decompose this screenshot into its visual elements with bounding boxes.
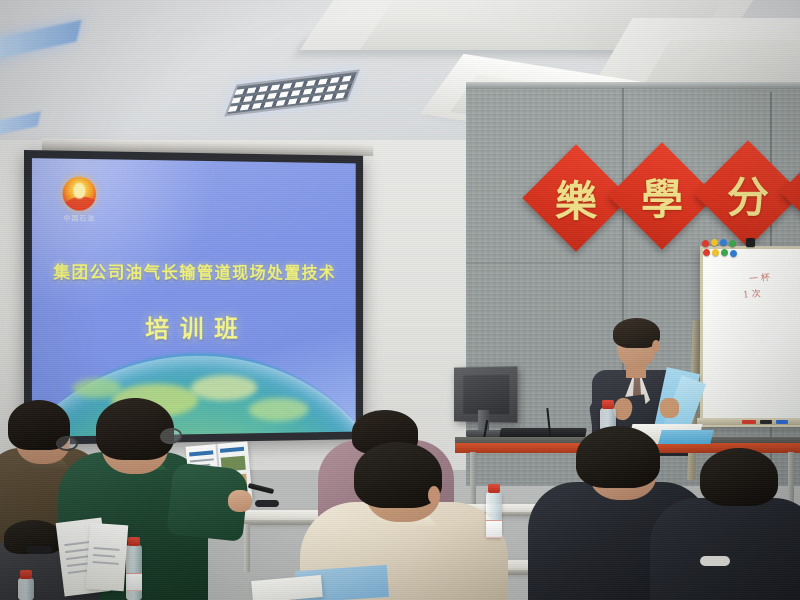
whiteboard-note: 一 杯 (749, 270, 771, 284)
petrochina-sun-logo-icon (63, 177, 96, 211)
slide-subtitle: 培训班 (32, 310, 356, 346)
whiteboard-magnet[interactable] (721, 249, 728, 256)
whiteboard-magnet[interactable] (712, 249, 719, 256)
attendee-hand (228, 490, 252, 512)
bottle-label (486, 520, 502, 538)
whiteboard-magnet[interactable] (703, 249, 710, 256)
fluorescent-light-icon (0, 111, 41, 139)
attendee-hair (576, 426, 660, 488)
whiteboard-marker[interactable] (760, 420, 772, 424)
bottle-cap (602, 400, 614, 409)
placard-character: 學 (624, 158, 700, 234)
desk-object (26, 546, 52, 554)
attendee-hair (700, 448, 778, 506)
placard-character: 分 (710, 156, 786, 232)
attendee-hair (96, 398, 174, 460)
wall-top-edge (466, 82, 800, 89)
whiteboard-magnet[interactable] (730, 250, 737, 257)
attendee-ear (428, 486, 440, 504)
placard-character: 享 (796, 154, 800, 230)
recessed-grille-light-icon (224, 70, 359, 117)
conference-room-photo: 中国石油 集团公司油气长输管道现场处置技术 培训班 樂 學 分 享 一 杯 1 … (0, 0, 800, 600)
desk-blue-folder (658, 430, 713, 444)
handout-page[interactable] (251, 575, 323, 600)
logo-caption: 中国石油 (58, 213, 101, 223)
fluorescent-light-icon (0, 20, 81, 60)
presenter-ear (652, 340, 660, 352)
water-bottle[interactable] (126, 545, 142, 600)
whiteboard-note: 1 次 (743, 286, 761, 300)
whiteboard-marker[interactable] (742, 420, 756, 424)
table-leg (470, 452, 476, 510)
petrochina-logo: 中国石油 (58, 176, 101, 223)
bottle-cap (488, 484, 500, 493)
water-bottle[interactable] (486, 492, 502, 538)
whiteboard-magnet[interactable] (702, 240, 709, 247)
slide-title: 集团公司油气长输管道现场处置技术 (32, 258, 356, 284)
handout-page[interactable] (86, 523, 129, 591)
whiteboard: 一 杯 1 次 (700, 246, 800, 427)
whiteboard-clip[interactable] (746, 238, 755, 247)
desk-object (255, 500, 279, 507)
whiteboard-magnet[interactable] (729, 240, 736, 247)
glasses-icon (56, 436, 78, 451)
bottle-cap (128, 537, 140, 546)
cup[interactable] (700, 556, 730, 566)
placard-character: 樂 (538, 160, 614, 236)
bottle-label (126, 573, 142, 591)
projection-screen: 中国石油 集团公司油气长输管道现场处置技术 培训班 (24, 150, 363, 445)
presenter-hand (660, 398, 679, 418)
whiteboard-marker[interactable] (776, 420, 788, 424)
water-bottle[interactable] (18, 578, 34, 600)
attendee-dark-suit-2 (650, 498, 800, 600)
whiteboard-magnet[interactable] (720, 239, 727, 246)
whiteboard-magnet[interactable] (711, 239, 718, 246)
desk-leg (244, 524, 250, 572)
projected-slide: 中国石油 集团公司油气长输管道现场处置技术 培训班 (32, 158, 356, 437)
bottle-cap (20, 570, 32, 579)
